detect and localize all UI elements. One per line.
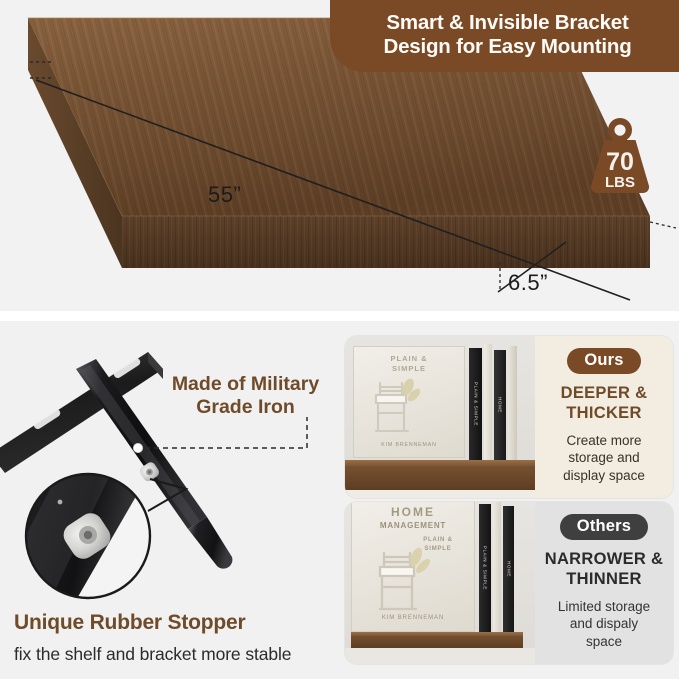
ours-book-title-bottom: SIMPLE: [354, 364, 464, 373]
ours-book-chair-art: [364, 373, 426, 439]
weight-value-text: 70: [606, 148, 634, 176]
weight-unit-text: LBS: [605, 174, 635, 191]
ours-body: Create more storage and display space: [563, 432, 645, 485]
headline-text: Smart & Invisible Bracket Design for Eas…: [383, 11, 631, 59]
military-grade-title: Made of Military Grade Iron: [148, 373, 343, 418]
ours-book-spine-3: HOME: [494, 350, 506, 460]
ours-heading-line-2: THICKER: [566, 404, 641, 422]
others-floor: [345, 648, 535, 664]
headline-line-2: Design for Easy Mounting: [383, 35, 631, 58]
others-info-panel: Others NARROWER & THINNER Limited storag…: [535, 502, 673, 664]
ours-heading: DEEPER & THICKER: [561, 384, 648, 424]
bracket-illustration: [0, 321, 345, 621]
weight-capacity-badge: 70 LBS: [579, 112, 661, 196]
military-grade-line-2: Grade Iron: [196, 396, 295, 418]
ours-body-line-1: Create more: [566, 433, 641, 448]
ours-book-spine-1: PLAIN & SIMPLE: [469, 348, 482, 460]
others-book-title-top: HOME: [352, 505, 474, 519]
headline-line-1: Smart & Invisible Bracket: [386, 11, 628, 34]
weight-icon: 70 LBS: [579, 112, 661, 196]
others-pill-label: Others: [560, 514, 648, 540]
military-grade-line-1: Made of Military: [172, 373, 319, 395]
ours-body-line-2: storage and: [568, 450, 639, 465]
ours-body-line-3: display space: [563, 468, 645, 483]
ours-book-title-top: PLAIN &: [354, 354, 464, 363]
ours-book-spine-2: [484, 344, 492, 460]
others-spine-2-label: HOME: [506, 561, 511, 577]
others-photo: HOME MANAGEMENT PLAIN & SIMPLE: [345, 502, 535, 664]
others-body-line-3: space: [586, 634, 622, 649]
ours-heading-line-1: DEEPER &: [561, 384, 648, 402]
rubber-stopper-subtitle: fix the shelf and bracket more stable: [14, 644, 291, 665]
ours-spine-1-label: PLAIN & SIMPLE: [473, 382, 478, 426]
others-body-line-2: and dispaly: [570, 616, 638, 631]
others-book-spine-3: HOME: [503, 506, 514, 632]
others-shelf: [351, 632, 523, 648]
others-book-spine-1: PLAIN & SIMPLE: [479, 504, 491, 632]
ours-book-spine-4: [508, 346, 517, 460]
others-book-author: KIM BRENNEMAN: [352, 615, 474, 621]
callout-leader-line: [133, 417, 307, 453]
others-display-book: HOME MANAGEMENT PLAIN & SIMPLE: [351, 502, 475, 632]
headline-banner: Smart & Invisible Bracket Design for Eas…: [330, 0, 679, 72]
others-body-line-1: Limited storage: [558, 599, 650, 614]
others-book-chair-art: [366, 541, 438, 617]
others-book-spine-2: [493, 502, 501, 632]
ours-book-author: KIM BRENNEMAN: [354, 442, 464, 448]
others-heading-line-1: NARROWER &: [545, 550, 664, 568]
bottom-panel: Made of Military Grade Iron Unique Rubbe…: [0, 321, 679, 679]
others-book-title-mid: MANAGEMENT: [352, 521, 474, 530]
others-spine-1-label: PLAIN & SIMPLE: [483, 546, 488, 590]
infographic-root: Smart & Invisible Bracket Design for Eas…: [0, 0, 679, 679]
ours-photo: PLAIN & SIMPLE K: [345, 336, 535, 498]
comparison-card-ours: PLAIN & SIMPLE K: [345, 336, 673, 498]
top-panel: Smart & Invisible Bracket Design for Eas…: [0, 0, 679, 311]
length-dimension-label: 55”: [208, 182, 241, 208]
ours-shelf-edge: [345, 460, 535, 466]
others-heading: NARROWER & THINNER: [545, 550, 664, 590]
others-body: Limited storage and dispaly space: [558, 598, 650, 651]
ours-shelf: [345, 460, 535, 490]
others-heading-line-2: THINNER: [566, 570, 641, 588]
comparison-card-others: HOME MANAGEMENT PLAIN & SIMPLE: [345, 502, 673, 664]
ours-spine-2-label: HOME: [498, 397, 503, 413]
ours-display-book: PLAIN & SIMPLE K: [353, 346, 465, 458]
rubber-stopper-title: Unique Rubber Stopper: [14, 611, 245, 635]
depth-dimension-label: 6.5”: [508, 270, 548, 296]
panel-divider: [0, 311, 679, 321]
others-shelf-edge: [351, 632, 523, 636]
ours-floor: [345, 490, 535, 498]
ours-info-panel: Ours DEEPER & THICKER Create more storag…: [535, 336, 673, 498]
ours-pill-label: Ours: [567, 348, 640, 374]
